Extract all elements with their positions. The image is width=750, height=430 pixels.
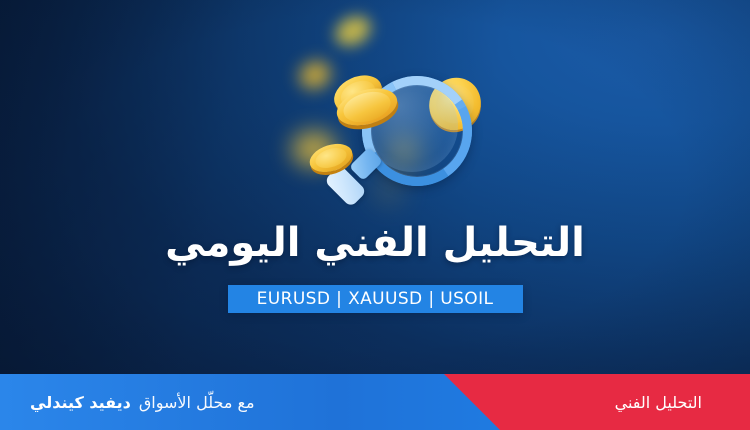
footer-analyst-name: ديفيد كيندلي [30,393,131,412]
symbols-badge-wrap: EURUSD | XAUUSD | USOIL [0,285,750,313]
footer-category-label: التحليل الفني [615,374,702,430]
footer-analyst-credit: مع محلّل الأسواق ديفيد كيندلي [30,374,255,430]
background-vignette [0,0,750,430]
footer-bar: مع محلّل الأسواق ديفيد كيندلي التحليل ال… [0,374,750,430]
page-title: التحليل الفني اليومي [0,222,750,265]
symbols-badge: EURUSD | XAUUSD | USOIL [228,285,523,313]
footer-role-label: مع محلّل الأسواق [139,393,255,412]
banner-canvas: التحليل الفني اليومي EURUSD | XAUUSD | U… [0,0,750,430]
